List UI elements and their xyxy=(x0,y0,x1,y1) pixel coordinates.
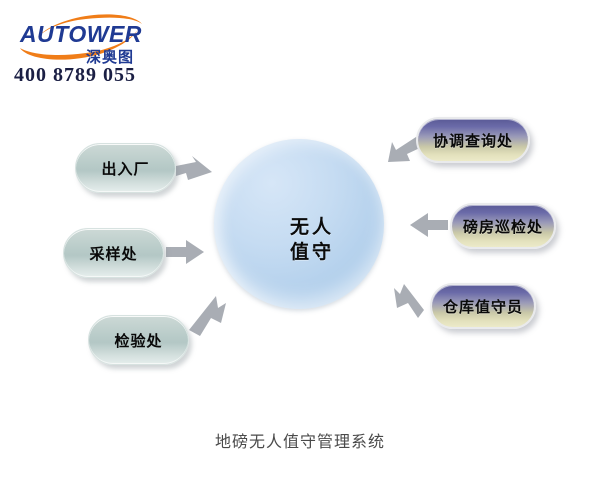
node-cangkuzhishouyuan-label: 仓库值守员 xyxy=(443,296,523,317)
node-cangkuzhishouyuan[interactable]: 仓库值守员 xyxy=(430,283,536,329)
hub-label-line2: 值守 xyxy=(290,240,334,265)
diagram-caption: 地磅无人值守管理系统 xyxy=(0,428,600,452)
arrow-to-cangkuzhishouyuan-icon xyxy=(394,284,424,318)
autower-logo: AUTOWER 深奥图 xyxy=(14,10,154,68)
node-jianyanchu-label: 检验处 xyxy=(114,330,162,351)
arrow-from-caiyangchu-icon xyxy=(166,240,204,264)
arrow-from-chukouchang-icon xyxy=(176,156,212,180)
hub-node-unattended: 无人 值守 xyxy=(214,139,384,309)
node-xietiaochaxunchu-label: 协调查询处 xyxy=(433,130,513,151)
node-bangfangxunjianchu-label: 磅房巡检处 xyxy=(463,216,543,237)
arrow-from-jianyanchu-icon xyxy=(189,296,226,336)
diagram-canvas: AUTOWER 深奥图 400 8789 055 xyxy=(0,0,600,480)
node-jianyanchu[interactable]: 检验处 xyxy=(88,315,189,365)
hub-label: 无人 值守 xyxy=(290,215,334,265)
node-caiyangchu-label: 采样处 xyxy=(89,243,137,264)
node-bangfangxunjianchu[interactable]: 磅房巡检处 xyxy=(450,203,556,249)
arrow-to-bangfangxunjianchu-icon xyxy=(410,213,448,237)
logo-svg: AUTOWER 深奥图 xyxy=(14,10,154,68)
node-chukouchang[interactable]: 出入厂 xyxy=(75,143,176,193)
node-caiyangchu[interactable]: 采样处 xyxy=(63,228,164,278)
contact-phone-number: 400 8789 055 xyxy=(14,64,136,87)
node-xietiaochaxunchu[interactable]: 协调查询处 xyxy=(416,117,530,163)
logo-wordmark: AUTOWER xyxy=(19,21,142,47)
hub-label-line1: 无人 xyxy=(290,215,334,240)
node-chukouchang-label: 出入厂 xyxy=(101,158,149,179)
